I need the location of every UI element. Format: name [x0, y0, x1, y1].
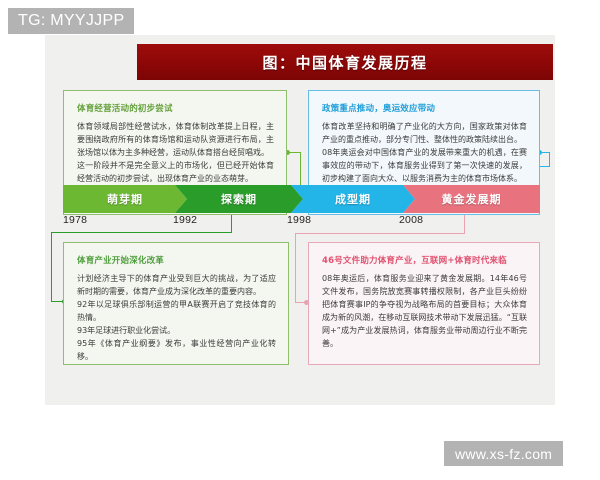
poster-title-bar: 图：中国体育发展历程 [137, 44, 553, 80]
watermark-top-left: TG: MYYJJPP [8, 8, 134, 34]
callout-paragraph: 体育改革坚持和明确了产业化的大方向，国家政策对体育产业的重点推动，部分专门性、整… [322, 121, 527, 147]
watermark-bottom-right: www.xs-fz.com [444, 441, 563, 466]
connector-line [51, 232, 232, 233]
timeline-stage-label: 萌芽期 [107, 191, 143, 207]
callout-paragraph: 08年奥运后，体育服务业迎来了黄金发展期。14年46号文件发布，国务院放宽赛事转… [322, 273, 527, 351]
watermark-bottom-text: www.xs-fz.com [455, 446, 552, 462]
timeline-arrow-bar: 萌芽期 探索期 成型期 黄金发展期 [63, 185, 540, 213]
watermark-top-text: TG: MYYJJPP [18, 12, 124, 30]
connector-line [51, 232, 52, 302]
page-title: 图：中国体育发展历程 [262, 52, 427, 73]
callout-body: 计划经济主导下的体育产业受到巨大的挑战，为了适应新时期的需要，体育产业成为深化改… [77, 273, 276, 364]
callout-heading: 体育产业开始深化改革 [77, 254, 276, 266]
callout-heading: 政策重点推动，奥运效应带动 [322, 102, 527, 114]
timeline-year: 1978 [63, 214, 87, 226]
timeline-stage-golden[interactable]: 黄金发展期 [403, 185, 540, 213]
timeline-stage-label: 黄金发展期 [442, 191, 502, 207]
callout-box-reform: 体育产业开始深化改革 计划经济主导下的体育产业受到巨大的挑战，为了适应新时期的需… [63, 242, 289, 365]
callout-box-internet-plus: 46号文件助力体育产业，互联网+体育时代来临 08年奥运后，体育服务业迎来了黄金… [308, 242, 540, 365]
infographic-poster: 图：中国体育发展历程 体育经营活动的初步尝试 体育领域局部性经营试水，体育体制改… [45, 35, 555, 405]
connector-line [549, 152, 550, 167]
callout-heading: 46号文件助力体育产业，互联网+体育时代来临 [322, 254, 527, 266]
timeline-stage-label: 探索期 [221, 191, 257, 207]
callout-paragraph: 体育领域局部性经营试水，体育体制改革提上日程，主要围绕政府所有的体育场馆和运动队… [77, 121, 274, 160]
callout-heading: 体育经营活动的初步尝试 [77, 102, 274, 114]
connector-line [295, 233, 296, 303]
callout-paragraph: 92年以足球俱乐部制运营的甲A联赛开启了竞技体育的热情。 [77, 299, 276, 325]
callout-paragraph: 这一阶段并不是完全意义上的市场化，但已经开始体育经营活动的初步尝试，出现体育产业… [77, 160, 274, 186]
timeline-year: 2008 [399, 214, 423, 226]
timeline-year: 1998 [287, 214, 311, 226]
callout-paragraph: 93年足球进行职业化尝试。 [77, 325, 276, 338]
timeline-stage-budding[interactable]: 萌芽期 [63, 185, 187, 213]
callout-paragraph: 计划经济主导下的体育产业受到巨大的挑战，为了适应新时期的需要，体育产业成为深化改… [77, 273, 276, 299]
callout-paragraph: 95年《体育产业纲要》发布，事业性经营向产业化转移。 [77, 338, 276, 364]
callout-body: 体育改革坚持和明确了产业化的大方向，国家政策对体育产业的重点推动，部分专门性、整… [322, 121, 527, 186]
callout-body: 体育领域局部性经营试水，体育体制改革提上日程，主要围绕政府所有的体育场馆和运动队… [77, 121, 274, 186]
connector-line [295, 233, 465, 234]
timeline-stage-label: 成型期 [335, 191, 371, 207]
callout-paragraph: 08年奥运会对中国体育产业的发展带来重大的机遇，在赛事效应的带动下，体育服务业得… [322, 147, 527, 186]
timeline-stage-exploration[interactable]: 探索期 [175, 185, 303, 213]
timeline-year: 1992 [173, 214, 197, 226]
timeline-year-axis: 1978 1992 1998 2008 [63, 214, 563, 230]
connector-line [300, 152, 301, 188]
timeline-stage-formation[interactable]: 成型期 [291, 185, 415, 213]
callout-body: 08年奥运后，体育服务业迎来了黄金发展期。14年46号文件发布，国务院放宽赛事转… [322, 273, 527, 351]
